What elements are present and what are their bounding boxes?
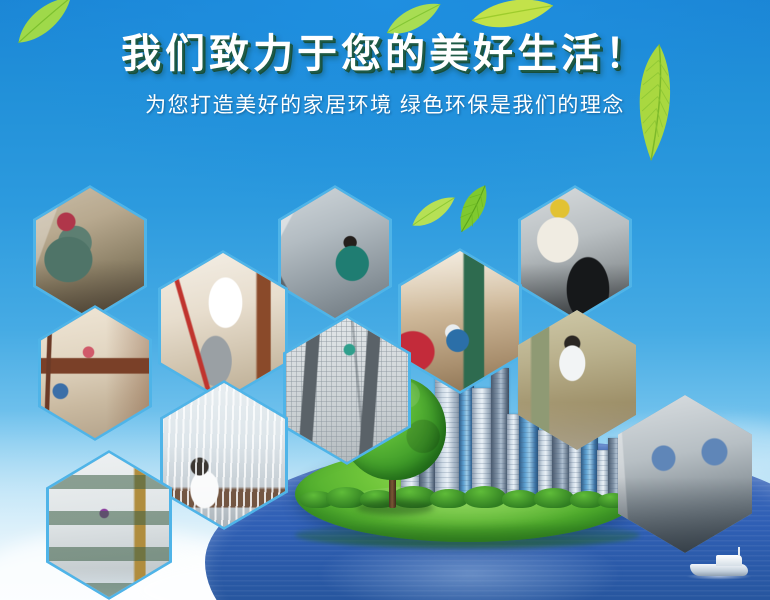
boat [686,548,752,582]
subheadline-container: 为您打造美好的家居环境 绿色环保是我们的理念 [0,95,770,117]
page-title: 我们致力于您的美好生活！ [121,34,649,74]
boat-mast [738,547,740,556]
page-subtitle: 为您打造美好的家居环境 绿色环保是我们的理念 [145,95,625,116]
boat-cabin [716,555,742,566]
island-rim [295,522,640,548]
banner-root: 我们致力于您的美好生活！ 为您打造美好的家居环境 绿色环保是我们的理念 [0,0,770,600]
headline-container: 我们致力于您的美好生活！ [0,34,770,74]
